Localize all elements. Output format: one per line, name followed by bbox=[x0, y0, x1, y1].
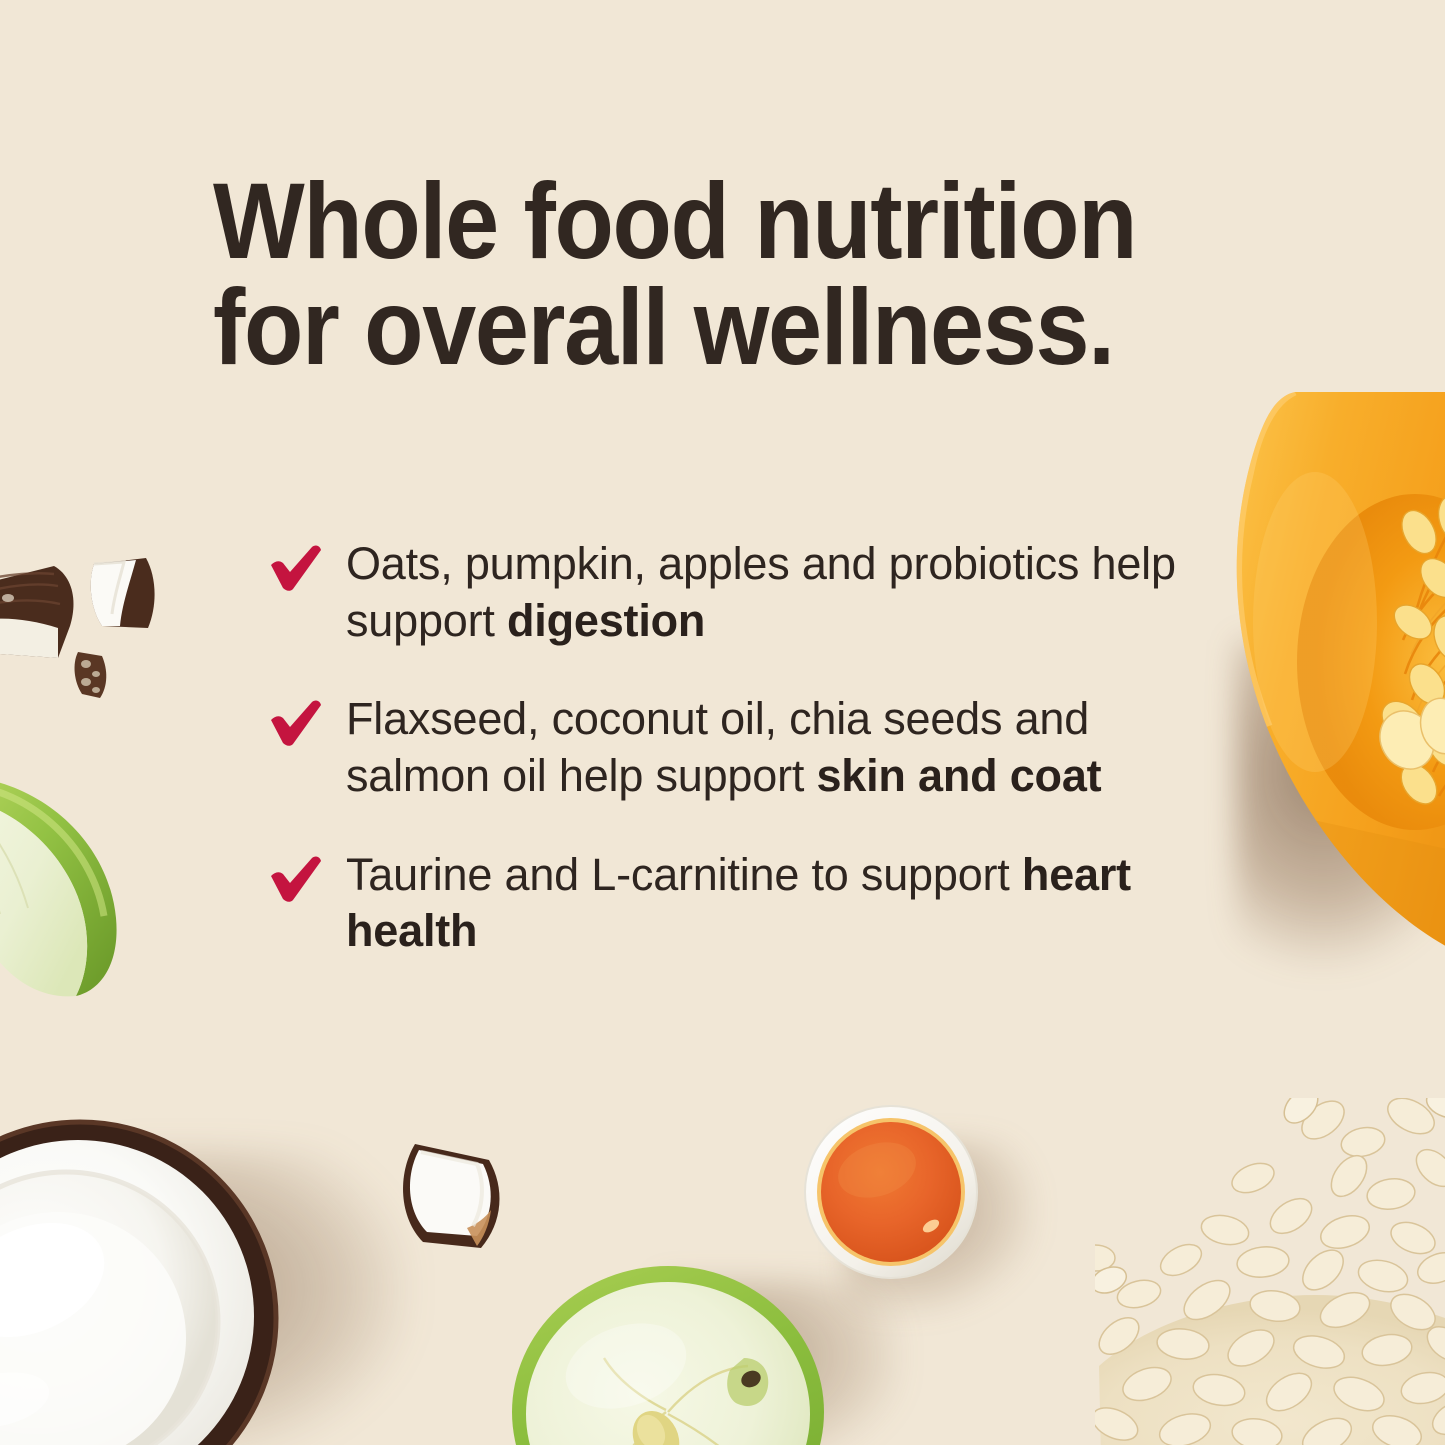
coconut-chunk-image bbox=[68, 648, 114, 700]
coconut-chunk-image bbox=[80, 556, 162, 634]
list-item: Oats, pumpkin, apples and probiotics hel… bbox=[268, 536, 1198, 649]
list-item-text-bold: skin and coat bbox=[816, 750, 1101, 801]
salmon-oil-bowl-image bbox=[803, 1104, 979, 1280]
checkmark-icon bbox=[268, 544, 324, 594]
benefits-list: Oats, pumpkin, apples and probiotics hel… bbox=[268, 536, 1198, 960]
green-apple-half-image bbox=[508, 1262, 838, 1445]
green-apple-slice-image bbox=[0, 768, 166, 1003]
promo-image: Whole food nutrition for overall wellnes… bbox=[0, 0, 1445, 1445]
coconut-chunk-image bbox=[385, 1132, 517, 1257]
list-item: Flaxseed, coconut oil, chia seeds and sa… bbox=[268, 691, 1198, 804]
coconut-half-image bbox=[0, 1100, 310, 1445]
list-item-text-regular: Oats, pumpkin, apples and probiotics hel… bbox=[346, 538, 1176, 646]
headline-line-1: Whole food nutrition bbox=[213, 168, 1167, 274]
pumpkin-half-image bbox=[1207, 392, 1445, 967]
headline-line-2: for overall wellness. bbox=[213, 274, 1167, 380]
checkmark-icon bbox=[268, 699, 324, 749]
checkmark-icon bbox=[268, 855, 324, 905]
list-item-text: Flaxseed, coconut oil, chia seeds and sa… bbox=[346, 691, 1198, 804]
list-item-text-regular: Taurine and L-carnitine to support bbox=[346, 849, 1022, 900]
list-item-text: Oats, pumpkin, apples and probiotics hel… bbox=[346, 536, 1198, 649]
page-title: Whole food nutrition for overall wellnes… bbox=[213, 168, 1167, 380]
list-item-text: Taurine and L-carnitine to support heart… bbox=[346, 847, 1198, 960]
list-item-text-bold: digestion bbox=[507, 595, 705, 646]
rolled-oats-pile-image bbox=[1095, 1098, 1445, 1445]
list-item: Taurine and L-carnitine to support heart… bbox=[268, 847, 1198, 960]
